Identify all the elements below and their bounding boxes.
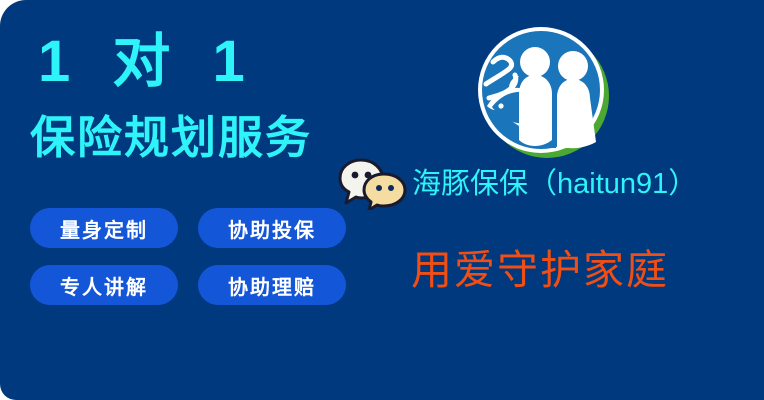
globe-family-dolphin-logo xyxy=(473,22,613,162)
headline-primary: 1 对 1 xyxy=(38,33,258,91)
service-badge-assist-claim[interactable]: 协助理赔 xyxy=(198,265,346,305)
service-badge-tailored[interactable]: 量身定制 xyxy=(30,208,178,248)
left-content-block: 1 对 1 保险规划服务 量身定制 协助投保 专人讲解 协助理赔 xyxy=(0,0,380,400)
service-badge-grid: 量身定制 协助投保 专人讲解 协助理赔 xyxy=(30,208,350,305)
slogan-text: 用爱守护家庭 xyxy=(411,250,669,291)
service-badge-assist-apply[interactable]: 协助投保 xyxy=(198,208,346,248)
promo-poster: 1 对 1 保险规划服务 量身定制 协助投保 专人讲解 协助理赔 xyxy=(0,0,764,400)
wechat-icon xyxy=(338,158,410,210)
service-badge-expert-explain[interactable]: 专人讲解 xyxy=(30,265,178,305)
wechat-contact-row[interactable]: 海豚保保（haitun91） xyxy=(338,158,697,210)
wechat-id-text: 海豚保保（haitun91） xyxy=(412,170,697,199)
headline-secondary: 保险规划服务 xyxy=(30,115,312,160)
